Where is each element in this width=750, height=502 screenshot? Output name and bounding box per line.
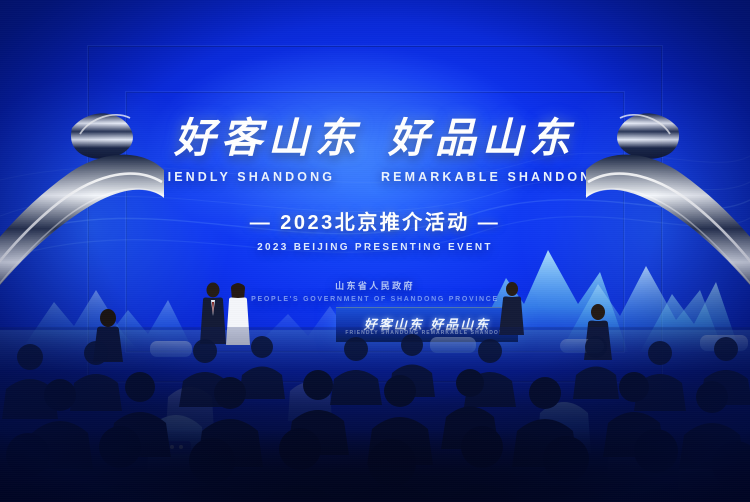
photo-vignette xyxy=(0,0,750,502)
event-photo-scene: 好客山东好品山东 FRIENDLY SHANDONG REMARKABLE SH… xyxy=(0,0,750,502)
